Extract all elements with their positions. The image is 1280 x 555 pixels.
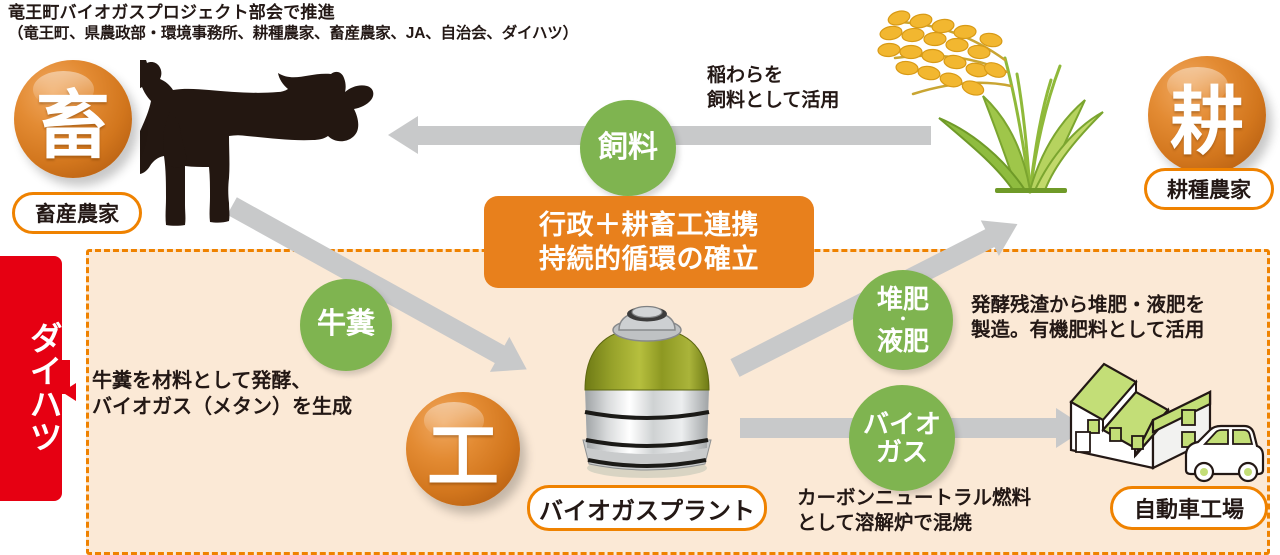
flow-circle-biogas: バイオ ガス [849,385,955,491]
pill-auto-factory-label: 自動車工場 [1134,492,1244,524]
flow-circle-biogas-label-2: ガス [876,438,928,466]
flow-circle-manure-label: 牛糞 [317,309,375,340]
note-compost: 発酵残渣から堆肥・液肥を 製造。有機肥料として活用 [971,293,1205,344]
center-banner-line1: 行政＋耕畜工連携 [539,208,759,242]
daihatsu-pointer-arrow-icon [62,383,76,401]
daihatsu-tab: ダイハツ [0,256,62,501]
flow-circle-compost: 堆肥 ・ 液肥 [853,270,953,370]
flow-circle-feed: 飼料 [580,100,676,196]
sphere-industry-char: 工 [427,397,499,502]
diagram-canvas: ダイハツ 竜王町バイオガスプロジェクト部会で推進 （竜王町、県農政部・環境事務所… [0,0,1280,554]
sphere-cultivation: 耕 [1148,56,1266,174]
flow-circle-compost-label-2: 液肥 [877,327,929,355]
sphere-industry: 工 [406,392,520,506]
note-straw: 稲わらを 飼料として活用 [707,64,839,113]
header-subtitle: （竜王町、県農政部・環境事務所、耕種農家、畜産農家、JA、自治会、ダイハツ） [8,24,578,44]
pill-livestock-farmer-label: 畜産農家 [35,198,119,228]
center-banner-line2: 持続的循環の確立 [539,242,759,276]
sphere-livestock-char: 畜 [36,66,110,173]
note-manure: 牛糞を材料として発酵、 バイオガス（メタン）を生成 [92,368,352,420]
header-title: 竜王町バイオガスプロジェクト部会で推進 [8,2,578,23]
pill-livestock-farmer: 畜産農家 [12,192,142,234]
flow-circle-manure: 牛糞 [300,279,392,371]
flow-circle-feed-label: 飼料 [598,132,658,164]
note-fuel: カーボンニュートラル燃料 として溶解炉で混焼 [797,486,1031,537]
rice-plant-icon [855,0,1105,222]
pill-biogas-plant-label: バイオガスプラント [539,491,755,526]
flow-circle-compost-label-1: 堆肥 [877,285,929,313]
pill-crop-farmer: 耕種農家 [1144,168,1274,210]
pill-auto-factory: 自動車工場 [1110,486,1268,530]
factory-building-icon [1058,358,1273,483]
flow-circle-compost-separator: ・ [895,313,910,327]
center-banner: 行政＋耕畜工連携 持続的循環の確立 [484,196,814,288]
sphere-livestock: 畜 [14,60,132,178]
header: 竜王町バイオガスプロジェクト部会で推進 （竜王町、県農政部・環境事務所、耕種農家… [8,2,578,44]
sphere-cultivation-char: 耕 [1170,62,1244,169]
pill-crop-farmer-label: 耕種農家 [1167,174,1251,204]
biogas-tank-icon [555,300,740,482]
daihatsu-tab-label: ダイハツ [0,294,62,479]
flow-circle-biogas-label-1: バイオ [863,410,941,438]
pill-biogas-plant: バイオガスプラント [527,485,767,531]
cow-silhouette-icon [140,60,420,240]
